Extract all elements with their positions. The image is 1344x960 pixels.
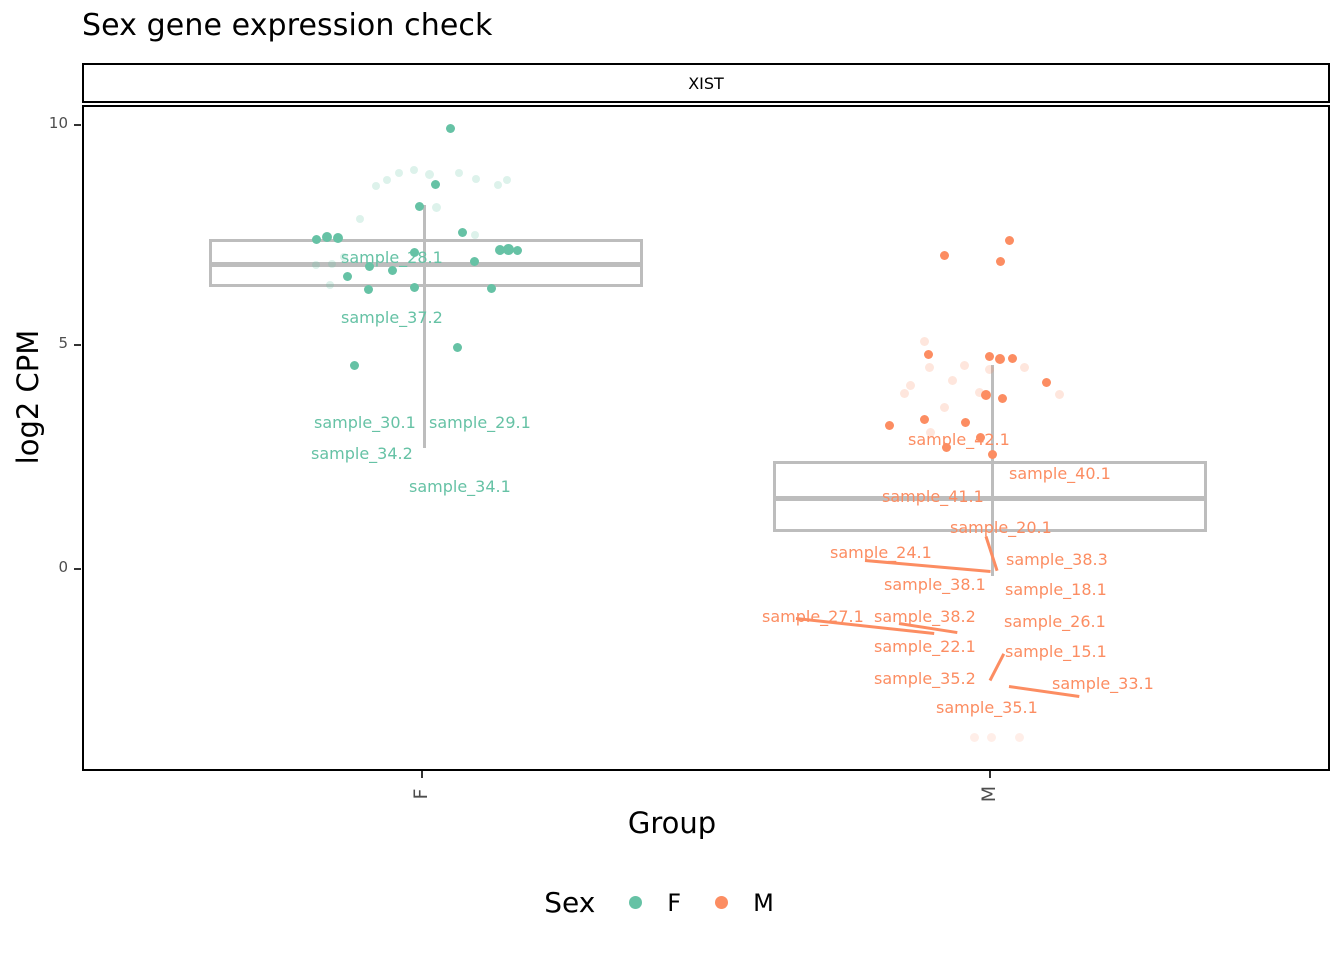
legend-dot-icon — [629, 896, 642, 909]
y-tick-mark — [74, 568, 81, 570]
point-label-male: sample_22.1 — [874, 637, 976, 656]
data-point-male — [987, 733, 996, 742]
data-point-female — [328, 260, 336, 268]
data-point-female — [471, 231, 479, 239]
point-label-male: sample_35.2 — [874, 669, 976, 688]
data-point-female — [513, 246, 522, 255]
data-point-male — [920, 415, 929, 424]
point-label-female: sample_28.1 — [341, 248, 443, 267]
legend-item-f[interactable]: F — [621, 889, 681, 917]
point-label-male: sample_42.1 — [908, 430, 1010, 449]
data-point-female — [410, 166, 418, 174]
y-tick-mark — [74, 124, 81, 126]
point-label-male: sample_41.1 — [882, 487, 984, 506]
data-point-male — [970, 733, 979, 742]
point-label-male: sample_20.1 — [950, 518, 1052, 537]
chart-root: Sex gene expression check XIST log2 CPM … — [0, 0, 1344, 960]
point-label-male: sample_26.1 — [1004, 612, 1106, 631]
facet-strip-label: XIST — [84, 65, 1328, 101]
data-point-male — [900, 389, 909, 398]
data-point-female — [446, 124, 455, 133]
x-axis-title: Group — [0, 806, 1344, 840]
data-point-female — [322, 232, 332, 242]
data-point-female — [432, 203, 441, 212]
data-point-female — [503, 176, 511, 184]
data-point-female — [372, 182, 380, 190]
data-point-male — [985, 352, 994, 361]
data-point-male — [998, 394, 1007, 403]
data-point-male — [981, 390, 991, 400]
data-point-female — [395, 169, 403, 177]
y-tick-mark — [74, 344, 81, 346]
data-point-female — [458, 228, 467, 237]
page-title: Sex gene expression check — [82, 8, 492, 43]
data-point-male — [885, 421, 894, 430]
data-point-female — [343, 272, 352, 281]
point-label-male: sample_24.1 — [830, 543, 932, 562]
boxplot-whisker — [991, 365, 994, 576]
point-label-female: sample_29.1 — [429, 413, 531, 432]
data-point-male — [961, 418, 970, 427]
data-point-male — [960, 361, 969, 370]
y-tick-label: 10 — [8, 114, 68, 132]
point-label-female: sample_34.1 — [409, 477, 511, 496]
data-point-female — [415, 202, 424, 211]
data-point-female — [383, 176, 391, 184]
point-label-male: sample_15.1 — [1005, 642, 1107, 661]
point-label-female: sample_34.2 — [311, 444, 413, 463]
plot-panel: sample_28.1sample_37.2sample_30.1sample_… — [82, 105, 1330, 771]
data-point-female — [487, 284, 496, 293]
data-point-male — [1015, 733, 1024, 742]
data-point-male — [1042, 378, 1051, 387]
data-point-male — [948, 376, 957, 385]
data-point-female — [470, 257, 479, 266]
point-label-male: sample_33.1 — [1052, 674, 1154, 693]
legend-dot-icon — [715, 896, 728, 909]
y-tick-label: 0 — [8, 558, 68, 576]
data-point-female — [472, 175, 480, 183]
point-label-male: sample_38.1 — [884, 575, 986, 594]
y-tick-label: 5 — [8, 334, 68, 352]
data-point-female — [333, 233, 343, 243]
legend-item-m[interactable]: M — [707, 889, 774, 917]
point-label-male: sample_35.1 — [936, 698, 1038, 717]
legend-title: Sex — [544, 886, 595, 919]
data-point-female — [350, 361, 359, 370]
data-point-male — [906, 381, 915, 390]
data-point-male — [1008, 354, 1017, 363]
data-point-male — [996, 257, 1005, 266]
data-point-female — [364, 285, 373, 294]
point-label-female: sample_37.2 — [341, 308, 443, 327]
data-point-male — [988, 450, 997, 459]
legend-items: FM — [621, 889, 800, 917]
legend-key — [621, 896, 649, 909]
legend-key — [707, 896, 735, 909]
data-point-male — [995, 354, 1005, 364]
data-point-female — [410, 283, 419, 292]
legend: Sex FM — [0, 886, 1344, 919]
data-point-male — [985, 365, 994, 374]
label-leader-line — [989, 653, 1006, 681]
data-point-female — [356, 215, 364, 223]
point-label-male: sample_18.1 — [1005, 580, 1107, 599]
data-point-female — [425, 170, 434, 179]
point-label-male: sample_38.2 — [874, 607, 976, 626]
data-point-female — [494, 181, 502, 189]
legend-label: F — [667, 889, 681, 917]
data-point-female — [431, 180, 440, 189]
legend-label: M — [753, 889, 774, 917]
data-point-female — [312, 235, 321, 244]
data-point-male — [924, 350, 933, 359]
boxplot-median — [773, 496, 1207, 501]
data-point-female — [326, 281, 334, 289]
data-point-female — [503, 244, 514, 255]
data-point-female — [453, 343, 462, 352]
data-point-female — [455, 169, 463, 177]
data-point-male — [1055, 390, 1064, 399]
point-label-male: sample_40.1 — [1009, 464, 1111, 483]
data-point-male — [920, 337, 929, 346]
data-point-male — [940, 251, 949, 260]
point-label-female: sample_30.1 — [314, 413, 416, 432]
data-point-male — [925, 363, 934, 372]
point-label-male: sample_38.3 — [1006, 550, 1108, 569]
y-axis-title: log2 CPM — [11, 277, 45, 517]
data-point-male — [1020, 363, 1029, 372]
data-point-male — [1005, 236, 1014, 245]
point-label-male: sample_27.1 — [762, 607, 864, 626]
data-point-male — [940, 403, 949, 412]
facet-strip: XIST — [82, 63, 1330, 103]
data-point-female — [312, 261, 320, 269]
